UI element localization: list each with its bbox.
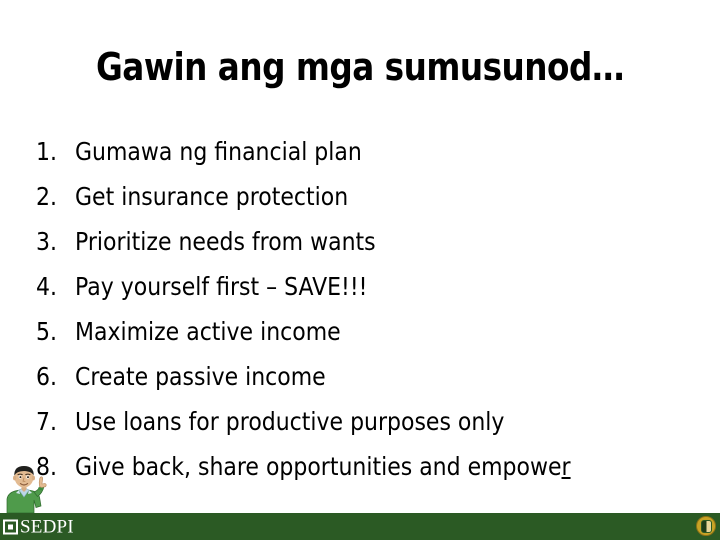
list-item-label: Use loans for productive purposes only: [75, 399, 504, 444]
brand-name: SEDPI: [20, 517, 74, 536]
list-item-label: Gumawa ng financial plan: [75, 129, 362, 174]
list-item: 2. Get insurance protection: [36, 174, 696, 219]
list-item-number: 3.: [36, 219, 70, 264]
square-outline-with-center-dot-icon: [3, 519, 18, 534]
trailing-underline-fragment: r: [562, 452, 571, 481]
list-item-number: 1.: [36, 129, 70, 174]
list-item-label: Prioritize needs from wants: [75, 219, 376, 264]
list-item-number: 7.: [36, 399, 70, 444]
list-item: 8. Give back, share opportunities and em…: [36, 444, 696, 489]
list-item-number: 5.: [36, 309, 70, 354]
list-item-label: Pay yourself first – SAVE!!!: [75, 264, 367, 309]
list-item: 1. Gumawa ng financial plan: [36, 129, 696, 174]
presentation-slide: Gawin ang mga sumusunod… 1. Gumawa ng fi…: [0, 0, 720, 540]
list-item-label: Create passive income: [75, 354, 326, 399]
list-item: 3. Prioritize needs from wants: [36, 219, 696, 264]
list-item-label: Maximize active income: [75, 309, 341, 354]
list-item-label: Get insurance protection: [75, 174, 348, 219]
list-item-number: 6.: [36, 354, 70, 399]
list-item: 4. Pay yourself first – SAVE!!!: [36, 264, 696, 309]
seal-inner-shape: [701, 520, 712, 533]
list-item: 5. Maximize active income: [36, 309, 696, 354]
gold-circular-seal-icon: [696, 516, 716, 536]
numbered-list: 1. Gumawa ng financial plan 2. Get insur…: [36, 129, 696, 489]
list-item-number: 4.: [36, 264, 70, 309]
footer-bar: SEDPI: [0, 513, 720, 540]
list-item: 6. Create passive income: [36, 354, 696, 399]
list-item-number: 2.: [36, 174, 70, 219]
page-title: Gawin ang mga sumusunod…: [81, 44, 638, 90]
brand-logo: SEDPI: [3, 517, 74, 536]
list-item: 7. Use loans for productive purposes onl…: [36, 399, 696, 444]
list-item-label: Give back, share opportunities and empow…: [75, 444, 571, 489]
man-pointing-up-illustration: [2, 461, 50, 513]
